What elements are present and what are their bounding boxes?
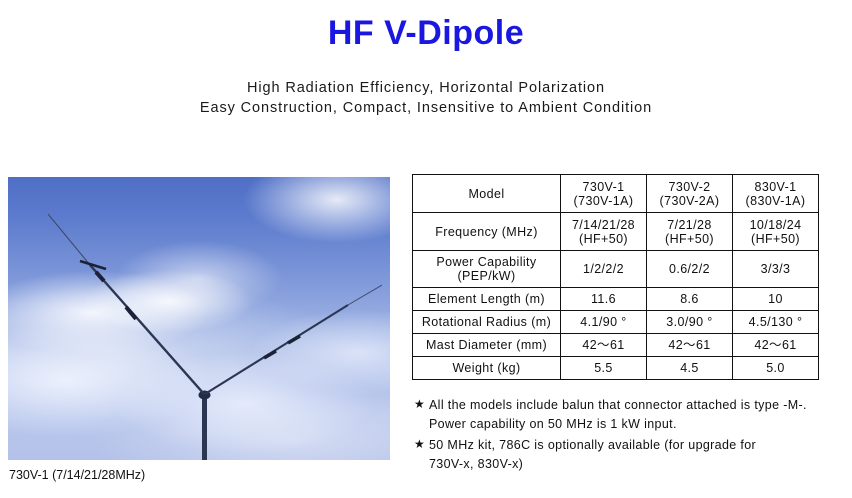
- table-row-rotational-radius: Rotational Radius (m) 4.1/90 ° 3.0/90 ° …: [413, 311, 819, 334]
- photo-caption: 730V-1 (7/14/21/28MHz): [9, 468, 145, 482]
- model-name: 730V-2: [649, 180, 730, 194]
- footnotes: ★ All the models include balun that conn…: [414, 396, 844, 476]
- antenna-left-element: [90, 265, 204, 394]
- table-row-frequency: Frequency (MHz) 7/14/21/28 (HF+50) 7/21/…: [413, 213, 819, 251]
- cell-value: 7/14/21/28: [563, 218, 644, 232]
- cell-weight-730v2: 4.5: [647, 357, 733, 380]
- antenna-left-trap-1: [126, 307, 136, 319]
- row-label-frequency: Frequency (MHz): [413, 213, 561, 251]
- header-cell-730v1: 730V-1 (730V-1A): [561, 175, 647, 213]
- row-label-rotational-radius: Rotational Radius (m): [413, 311, 561, 334]
- header-cell-730v2: 730V-2 (730V-2A): [647, 175, 733, 213]
- cell-rotational-radius-830v1: 4.5/130 °: [733, 311, 819, 334]
- subtitle-line-2: Easy Construction, Compact, Insensitive …: [0, 98, 852, 118]
- antenna-right-element: [205, 305, 348, 394]
- cell-power-730v2: 0.6/2/2: [647, 251, 733, 288]
- cell-weight-730v1: 5.5: [561, 357, 647, 380]
- subtitle-line-1: High Radiation Efficiency, Horizontal Po…: [0, 78, 852, 98]
- cell-rotational-radius-730v1: 4.1/90 °: [561, 311, 647, 334]
- footnote-2-line-1: 50 MHz kit, 786C is optionally available…: [429, 438, 756, 452]
- antenna-right-trap-2: [288, 336, 300, 343]
- footnote-1-line-2: Power capability on 50 MHz is 1 kW input…: [429, 415, 844, 434]
- cell-frequency-830v1: 10/18/24 (HF+50): [733, 213, 819, 251]
- cell-power-830v1: 3/3/3: [733, 251, 819, 288]
- page-subtitle: High Radiation Efficiency, Horizontal Po…: [0, 78, 852, 118]
- star-icon: ★: [414, 435, 425, 454]
- footnote-2-line-2: 730V-x, 830V-x): [429, 455, 844, 474]
- cell-weight-830v1: 5.0: [733, 357, 819, 380]
- cell-element-length-730v2: 8.6: [647, 288, 733, 311]
- page-title: HF V-Dipole: [0, 14, 852, 53]
- footnote-item-2: ★ 50 MHz kit, 786C is optionally availab…: [414, 436, 844, 473]
- cell-rotational-radius-730v2: 3.0/90 °: [647, 311, 733, 334]
- star-icon: ★: [414, 395, 425, 414]
- row-label-weight: Weight (kg): [413, 357, 561, 380]
- v-dipole-antenna-illustration: [8, 177, 390, 460]
- cell-value: 7/21/28: [649, 218, 730, 232]
- cell-mast-diameter-830v1: 42～61: [733, 334, 819, 357]
- model-variant: (730V-2A): [649, 194, 730, 208]
- model-name: 830V-1: [735, 180, 816, 194]
- row-label-main: Power Capability: [415, 255, 558, 269]
- model-variant: (730V-1A): [563, 194, 644, 208]
- cell-frequency-730v1: 7/14/21/28 (HF+50): [561, 213, 647, 251]
- row-label-mast-diameter: Mast Diameter (mm): [413, 334, 561, 357]
- cell-mast-diameter-730v2: 42～61: [647, 334, 733, 357]
- cell-subvalue: (HF+50): [649, 232, 730, 246]
- row-label-element-length: Element Length (m): [413, 288, 561, 311]
- cell-element-length-830v1: 10: [733, 288, 819, 311]
- table-row-power-capability: Power Capability (PEP/kW) 1/2/2/2 0.6/2/…: [413, 251, 819, 288]
- model-variant: (830V-1A): [735, 194, 816, 208]
- datasheet-page: HF V-Dipole High Radiation Efficiency, H…: [0, 0, 852, 498]
- antenna-right-trap-1: [264, 351, 276, 358]
- antenna-mast: [202, 395, 207, 460]
- table-row-mast-diameter: Mast Diameter (mm) 42～61 42～61 42～61: [413, 334, 819, 357]
- cell-power-730v1: 1/2/2/2: [561, 251, 647, 288]
- cell-mast-diameter-730v1: 42～61: [561, 334, 647, 357]
- model-name: 730V-1: [563, 180, 644, 194]
- table-row-element-length: Element Length (m) 11.6 8.6 10: [413, 288, 819, 311]
- antenna-right-tip: [348, 285, 382, 305]
- product-photo: [8, 177, 390, 460]
- table-header-row: Model 730V-1 (730V-1A) 730V-2 (730V-2A) …: [413, 175, 819, 213]
- cell-frequency-730v2: 7/21/28 (HF+50): [647, 213, 733, 251]
- cell-subvalue: (HF+50): [563, 232, 644, 246]
- cell-element-length-730v1: 11.6: [561, 288, 647, 311]
- antenna-left-trap-2: [96, 272, 104, 281]
- footnote-1-line-1: All the models include balun that connec…: [429, 398, 807, 412]
- antenna-left-tip: [48, 214, 90, 265]
- cell-subvalue: (HF+50): [735, 232, 816, 246]
- footnote-item-1: ★ All the models include balun that conn…: [414, 396, 844, 433]
- row-label-power-capability: Power Capability (PEP/kW): [413, 251, 561, 288]
- row-label-unit: (PEP/kW): [415, 269, 558, 283]
- header-cell-model: Model: [413, 175, 561, 213]
- header-cell-830v1: 830V-1 (830V-1A): [733, 175, 819, 213]
- cell-value: 10/18/24: [735, 218, 816, 232]
- specification-table: Model 730V-1 (730V-1A) 730V-2 (730V-2A) …: [412, 174, 819, 380]
- table-row-weight: Weight (kg) 5.5 4.5 5.0: [413, 357, 819, 380]
